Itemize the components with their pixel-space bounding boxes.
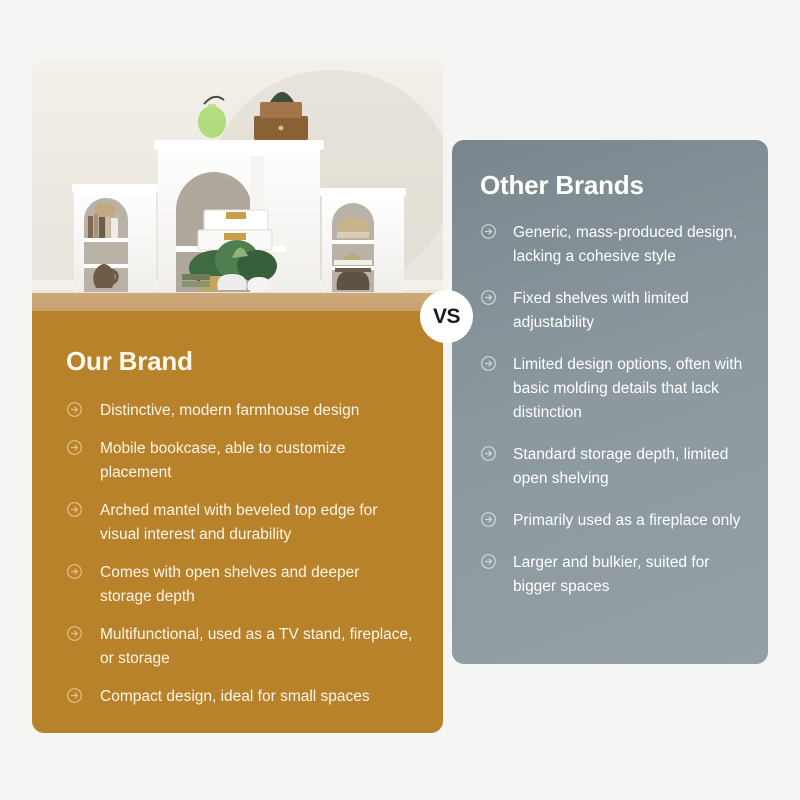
list-item-text: Comes with open shelves and deeper stora… bbox=[100, 561, 413, 609]
our-brand-panel: Our Brand Distinctive, modern farmhouse … bbox=[32, 311, 443, 733]
list-item-text: Distinctive, modern farmhouse design bbox=[100, 399, 359, 423]
circle-arrow-right-icon bbox=[66, 501, 83, 518]
list-item: Larger and bulkier, suited for bigger sp… bbox=[480, 551, 744, 599]
list-item: Compact design, ideal for small spaces bbox=[66, 685, 413, 709]
vs-badge: VS bbox=[420, 290, 473, 343]
other-brands-panel: Other Brands Generic, mass-produced desi… bbox=[452, 140, 768, 664]
list-item: Mobile bookcase, able to customize place… bbox=[66, 437, 413, 485]
list-item: Multifunctional, used as a TV stand, fir… bbox=[66, 623, 413, 671]
list-item-text: Primarily used as a fireplace only bbox=[513, 509, 740, 533]
comparison-infographic: Our Brand Distinctive, modern farmhouse … bbox=[0, 0, 800, 800]
list-item-text: Generic, mass-produced design, lacking a… bbox=[513, 221, 744, 269]
circle-arrow-right-icon bbox=[66, 687, 83, 704]
our-brand-title: Our Brand bbox=[66, 346, 413, 377]
our-brand-bullet-list: Distinctive, modern farmhouse design Mob… bbox=[66, 399, 413, 709]
list-item: Comes with open shelves and deeper stora… bbox=[66, 561, 413, 609]
list-item-text: Larger and bulkier, suited for bigger sp… bbox=[513, 551, 744, 599]
list-item: Distinctive, modern farmhouse design bbox=[66, 399, 413, 423]
list-item-text: Multifunctional, used as a TV stand, fir… bbox=[100, 623, 413, 671]
other-brands-bullet-list: Generic, mass-produced design, lacking a… bbox=[480, 221, 744, 599]
circle-arrow-right-icon bbox=[66, 625, 83, 642]
list-item-text: Standard storage depth, limited open she… bbox=[513, 443, 744, 491]
list-item-text: Limited design options, often with basic… bbox=[513, 353, 744, 425]
circle-arrow-right-icon bbox=[480, 355, 497, 372]
circle-arrow-right-icon bbox=[66, 439, 83, 456]
list-item: Standard storage depth, limited open she… bbox=[480, 443, 744, 491]
list-item-text: Mobile bookcase, able to customize place… bbox=[100, 437, 413, 485]
list-item: Primarily used as a fireplace only bbox=[480, 509, 744, 533]
circle-arrow-right-icon bbox=[480, 553, 497, 570]
circle-arrow-right-icon bbox=[66, 401, 83, 418]
list-item: Generic, mass-produced design, lacking a… bbox=[480, 221, 744, 269]
list-item-text: Fixed shelves with limited adjustability bbox=[513, 287, 744, 335]
product-photo bbox=[32, 60, 443, 342]
list-item-text: Compact design, ideal for small spaces bbox=[100, 685, 370, 709]
circle-arrow-right-icon bbox=[480, 289, 497, 306]
circle-arrow-right-icon bbox=[480, 223, 497, 240]
circle-arrow-right-icon bbox=[480, 445, 497, 462]
list-item-text: Arched mantel with beveled top edge for … bbox=[100, 499, 413, 547]
list-item: Limited design options, often with basic… bbox=[480, 353, 744, 425]
circle-arrow-right-icon bbox=[66, 563, 83, 580]
other-brands-title: Other Brands bbox=[480, 170, 744, 201]
circle-arrow-right-icon bbox=[480, 511, 497, 528]
list-item: Fixed shelves with limited adjustability bbox=[480, 287, 744, 335]
list-item: Arched mantel with beveled top edge for … bbox=[66, 499, 413, 547]
